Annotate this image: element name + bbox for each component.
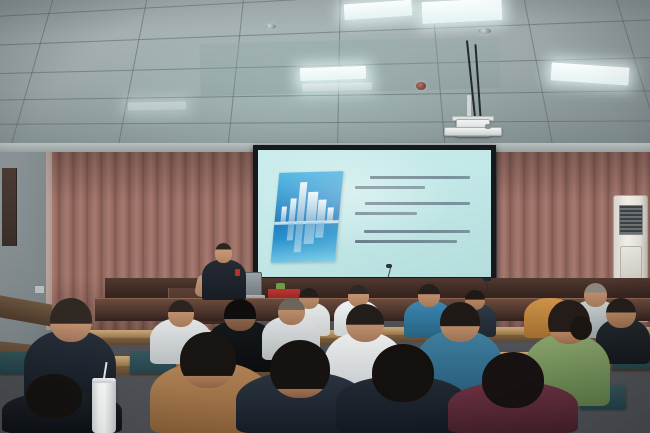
- ceiling-light-panel: [300, 66, 366, 81]
- air-conditioner-panel[interactable]: [620, 246, 642, 282]
- hair-bun: [570, 316, 592, 340]
- person-head: [606, 298, 636, 328]
- person-head: [50, 298, 92, 342]
- conference-room-photo: Conference room training session present…: [0, 0, 650, 433]
- recessed-downlight-icon: [265, 24, 276, 29]
- microphone-icon: [386, 264, 392, 268]
- screen-microphone-stand: [386, 267, 391, 277]
- ceiling-light-panel: [421, 0, 502, 24]
- person-head: [168, 300, 194, 327]
- light-switch[interactable]: [34, 285, 45, 294]
- ceiling-light-panel: [128, 101, 186, 110]
- projection-screen-surface: [258, 150, 491, 277]
- smoke-detector-icon: [416, 82, 426, 90]
- person-head: [224, 299, 256, 331]
- slide-text-line: [365, 202, 470, 205]
- person-head: [418, 284, 440, 307]
- slide-text-line: [355, 186, 425, 189]
- skyline-reflection: [294, 222, 304, 252]
- skyline-reflection: [303, 222, 315, 244]
- projector-lens-icon: [485, 124, 491, 129]
- skyline-tower: [317, 200, 327, 222]
- microphone-icon: [483, 278, 491, 281]
- projector-mount-pole: [467, 95, 471, 117]
- person-head: [180, 332, 236, 388]
- person-head: [346, 304, 384, 342]
- skyline-reflection: [315, 222, 325, 238]
- person-head: [278, 298, 305, 325]
- presenter-badge: [235, 269, 240, 276]
- projection-screen: [253, 145, 496, 282]
- slide-text-line: [355, 212, 417, 215]
- projector-base-plate: [444, 127, 502, 136]
- person-head: [372, 344, 434, 402]
- person-head: [440, 302, 480, 342]
- wall-panel: [2, 168, 17, 246]
- person-head: [26, 374, 82, 418]
- ceiling: [0, 0, 650, 152]
- tumbler-cup[interactable]: [92, 380, 116, 433]
- slide-text-line: [364, 230, 470, 233]
- person-head: [482, 352, 544, 408]
- skyline-reflection: [287, 223, 295, 241]
- air-conditioner-vent-icon: [619, 205, 643, 235]
- recessed-downlight-icon: [478, 28, 491, 34]
- presenter-head: [215, 243, 232, 263]
- slide-text-line: [355, 240, 457, 243]
- slide-text-line: [370, 176, 470, 179]
- person-head: [584, 283, 607, 307]
- tumbler-lid: [92, 378, 116, 383]
- slide-skyline-image: [271, 171, 344, 263]
- presenter-torso: [202, 260, 246, 300]
- person-head: [270, 340, 330, 398]
- skyline-tower: [288, 199, 296, 223]
